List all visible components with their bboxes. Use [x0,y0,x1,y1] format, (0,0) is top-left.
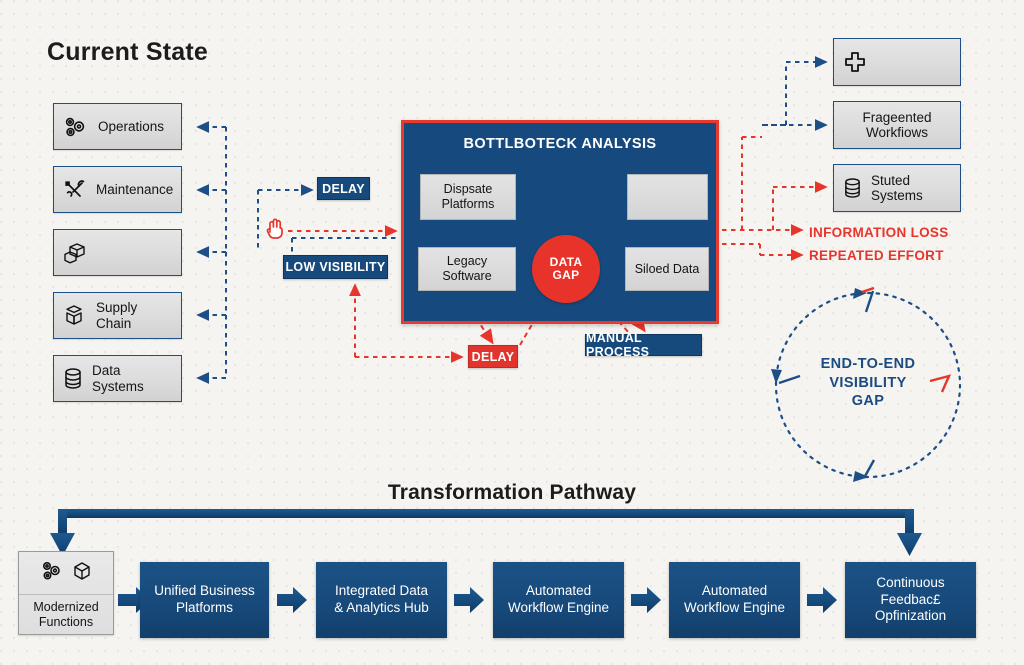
modernized-icons [19,552,113,595]
pathway-step-1[interactable]: Unified BusinessPlatforms [140,562,269,638]
function-box-operations[interactable]: Operations [53,103,182,150]
pathway-step-3[interactable]: AutomatedWorkflow Engine [493,562,624,638]
bottleneck-analysis-panel: BOTTLBOTECK ANALYSIS DispsatePlatforms L… [401,120,719,324]
item-label: DispsatePlatforms [442,182,495,212]
function-box-maintenance[interactable]: Maintenance [53,166,182,213]
function-label: Operations [98,119,164,134]
gears-icon [63,116,89,138]
item-label: Siloed Data [635,262,700,277]
tag-low-visibility[interactable]: LOW VISIBILITY [283,255,388,279]
impact-label: FrageentedWorkfiows [862,110,931,141]
pathway-step-4[interactable]: AutomatedWorkflow Engine [669,562,800,638]
tag-delay-bottom[interactable]: DELAY [468,345,518,368]
end-to-end-visibility-gap-label: END-TO-ENDVISIBILITYGAP [778,355,958,411]
function-label: Maintenance [96,182,173,197]
item-label: Legacy Software [424,254,510,284]
pathway-step-5[interactable]: ContinuousFeedbac£ Opfinization [845,562,976,638]
outcome-repeated-effort: REPEATED EFFORT [809,248,944,263]
outcome-information-loss: INFORMATION LOSS [809,225,949,240]
gears-icon [40,560,66,587]
tag-manual-process[interactable]: MANUAL PROCESS [585,334,702,356]
impact-label: StutedSystems [871,173,923,204]
impact-box-siloed-systems[interactable]: StutedSystems [833,164,961,212]
database-icon [843,177,862,200]
cube-icon [72,561,92,586]
pathway-start-label: ModernizedFunctions [19,595,113,634]
pathway-start-modernized-functions[interactable]: ModernizedFunctions [18,551,114,635]
bottleneck-item-legacy-software[interactable]: Legacy Software [418,247,516,291]
bottleneck-item-disparate-platforms[interactable]: DispsatePlatforms [420,174,516,220]
data-gap-badge: DATA GAP [532,235,600,303]
plus-cross-icon [843,50,867,74]
hand-cursor-icon [265,216,285,245]
impact-box-fragmented-workflows[interactable]: FrageentedWorkfiows [833,101,961,149]
function-label: DataSystems [92,363,144,394]
cube-stack-icon [63,304,87,328]
tools-icon [63,179,87,201]
bottleneck-item-empty[interactable] [627,174,708,220]
impact-box-plus[interactable] [833,38,961,86]
function-box-supply-chain[interactable]: Supply Chain [53,292,182,339]
database-icon [63,367,83,391]
data-gap-line2: GAP [553,269,580,282]
tag-delay-top[interactable]: DELAY [317,177,370,200]
function-box-data-systems[interactable]: DataSystems [53,355,182,402]
pathway-step-2[interactable]: Integrated Data& Analytics Hub [316,562,447,638]
function-box-unlabeled[interactable] [53,229,182,276]
bottleneck-item-siloed-data[interactable]: Siloed Data [625,247,709,291]
bottleneck-heading: BOTTLBOTECK ANALYSIS [404,136,716,152]
current-state-heading: Current State [47,38,208,67]
function-label: Supply Chain [96,300,172,331]
boxes-icon [63,241,93,265]
transformation-pathway-heading: Transformation Pathway [0,481,1024,505]
